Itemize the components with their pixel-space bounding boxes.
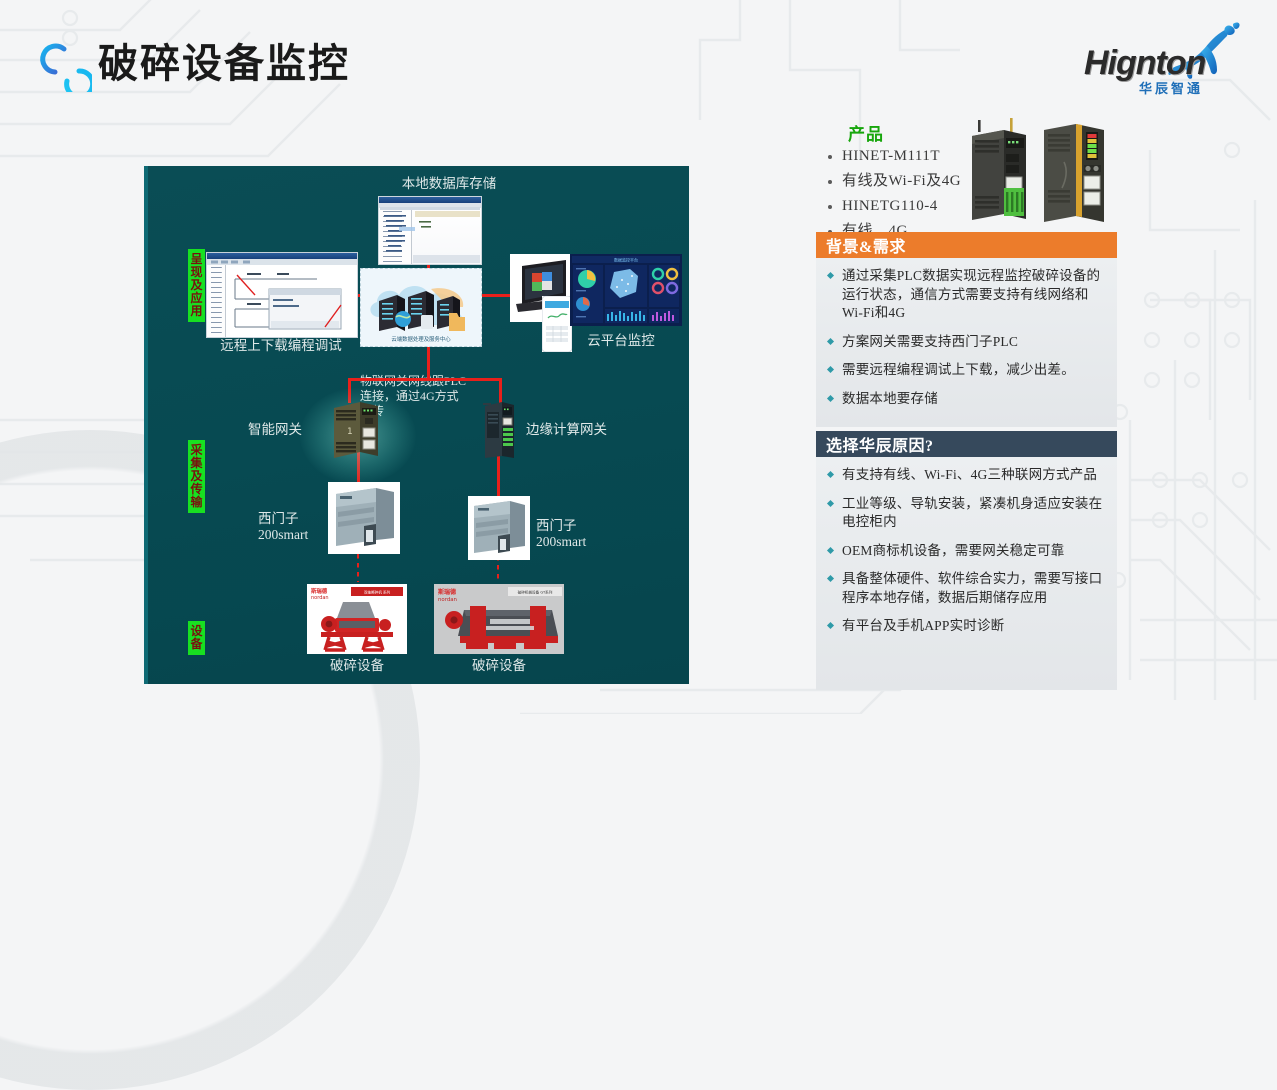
mobile-phone-image xyxy=(542,296,572,352)
crusher-right-image: 斯瑞德 nordan 破碎机械设备 GT系列 xyxy=(434,584,564,654)
remote-programming-screenshot xyxy=(206,252,358,338)
layer-label-application: 呈现及应用 xyxy=(188,249,205,322)
reason-list: 有支持有线、Wi-Fi、4G三种联网方式产品 工业等级、导轨安装，紧凑机身适应安… xyxy=(824,466,1105,636)
requirement-item: 数据本地要存储 xyxy=(824,390,1105,409)
wire-plc-to-crusher-left xyxy=(357,554,359,582)
brand-logo: Hignton 华辰智通 xyxy=(1084,24,1239,98)
requirement-item: 通过采集PLC数据实现远程监控破碎设备的运行状态，通信方式需要支持有线网络和Wi… xyxy=(824,267,1105,323)
section-header-why-choose-hignton: 选择华辰原因? xyxy=(816,431,1117,457)
plc-left-image xyxy=(328,482,400,554)
label-plc-right: 西门子 200smart xyxy=(536,518,602,550)
requirement-item: 需要远程编程调试上下载，减少出差。 xyxy=(824,361,1105,380)
label-edge-gateway: 边缘计算网关 xyxy=(526,422,607,437)
requirement-list: 通过采集PLC数据实现远程监控破碎设备的运行状态，通信方式需要支持有线网络和Wi… xyxy=(824,267,1105,408)
label-plc-left: 西门子 200smart xyxy=(258,511,324,543)
section-background-requirements: 背景&需求 通过采集PLC数据实现远程监控破碎设备的运行状态，通信方式需要支持有… xyxy=(816,232,1117,427)
label-remote-programming: 远程上下载编程调试 xyxy=(206,338,356,353)
right-info-panel: 产品 HINET-M111T 有线及Wi-Fi及4G HINETG110-4 有… xyxy=(816,110,1117,228)
reason-item: OEM商标机设备，需要网关稳定可靠 xyxy=(824,542,1105,561)
hinetg110-4-photo xyxy=(1044,124,1104,222)
label-smart-gateway: 智能网关 xyxy=(248,422,302,437)
requirement-item: 方案网关需要支持西门子PLC xyxy=(824,333,1105,352)
section-body-why-choose-hignton: 有支持有线、Wi-Fi、4G三种联网方式产品 工业等级、导轨安装，紧凑机身适应安… xyxy=(816,457,1117,690)
architecture-diagram: 呈现及应用 采集及传输 设备 本地数据库存储 xyxy=(148,166,689,684)
svg-text:数据监控平台: 数据监控平台 xyxy=(614,257,638,263)
diagram-left-accent xyxy=(144,166,148,684)
product-photos xyxy=(964,118,1114,228)
label-cloud-platform: 云平台监控 xyxy=(566,333,676,348)
label-local-database: 本地数据库存储 xyxy=(379,176,519,191)
cloud-dashboard-image: 数据监控平台 xyxy=(570,254,682,326)
svg-text:斯瑞德: 斯瑞德 xyxy=(438,588,456,596)
section-header-background-requirements: 背景&需求 xyxy=(816,232,1117,258)
svg-text:破碎机械设备 GT系列: 破碎机械设备 GT系列 xyxy=(518,590,553,595)
reason-item: 具备整体硬件、软件综合实力，需要写接口程序本地存储，数据后期储存应用 xyxy=(824,570,1105,607)
svg-text:1: 1 xyxy=(347,427,353,437)
svg-text:斯瑞德: 斯瑞德 xyxy=(311,587,328,595)
reason-item: 有支持有线、Wi-Fi、4G三种联网方式产品 xyxy=(824,466,1105,485)
layer-label-device: 设备 xyxy=(188,621,205,655)
reason-item: 工业等级、导轨安装，紧凑机身适应安装在电控柜内 xyxy=(824,495,1105,532)
local-database-screenshot xyxy=(378,196,482,265)
product-block: 产品 HINET-M111T 有线及Wi-Fi及4G HINETG110-4 有… xyxy=(816,110,1117,228)
layer-label-collection: 采集及传输 xyxy=(188,440,205,513)
svg-text:nordan: nordan xyxy=(311,595,329,601)
page-header: 破碎设备监控 Hignton 华辰智通 xyxy=(0,0,1277,118)
crusher-left-image: 斯瑞德 nordan 双轴撕碎机 系列 xyxy=(307,584,407,654)
reason-item: 有平台及手机APP实时诊断 xyxy=(824,617,1105,636)
svg-text:云端数据处理及服务中心: 云端数据处理及服务中心 xyxy=(391,335,451,343)
wire-cloud-down xyxy=(427,345,430,380)
label-crusher-left: 破碎设备 xyxy=(307,658,407,673)
edge-gateway-device xyxy=(482,400,518,462)
plc-right-image xyxy=(468,496,530,560)
svg-text:nordan: nordan xyxy=(438,597,457,603)
svg-text:双轴撕碎机 系列: 双轴撕碎机 系列 xyxy=(364,590,391,595)
brand-chinese-name: 华辰智通 xyxy=(1139,78,1203,97)
wire-gateway-bus xyxy=(348,378,502,381)
section-why-choose-hignton: 选择华辰原因? 有支持有线、Wi-Fi、4G三种联网方式产品 工业等级、导轨安装… xyxy=(816,431,1117,690)
page-title: 破碎设备监控 xyxy=(98,37,350,91)
section-body-background-requirements: 通过采集PLC数据实现远程监控破碎设备的运行状态，通信方式需要支持有线网络和Wi… xyxy=(816,258,1117,427)
interlocking-circles-logo-icon xyxy=(34,38,92,92)
product-heading: 产品 xyxy=(848,120,884,145)
label-crusher-right: 破碎设备 xyxy=(434,658,564,673)
cloud-data-center-image: 云端数据处理及服务中心 xyxy=(360,268,482,347)
smart-gateway-device: 1 xyxy=(330,400,384,462)
